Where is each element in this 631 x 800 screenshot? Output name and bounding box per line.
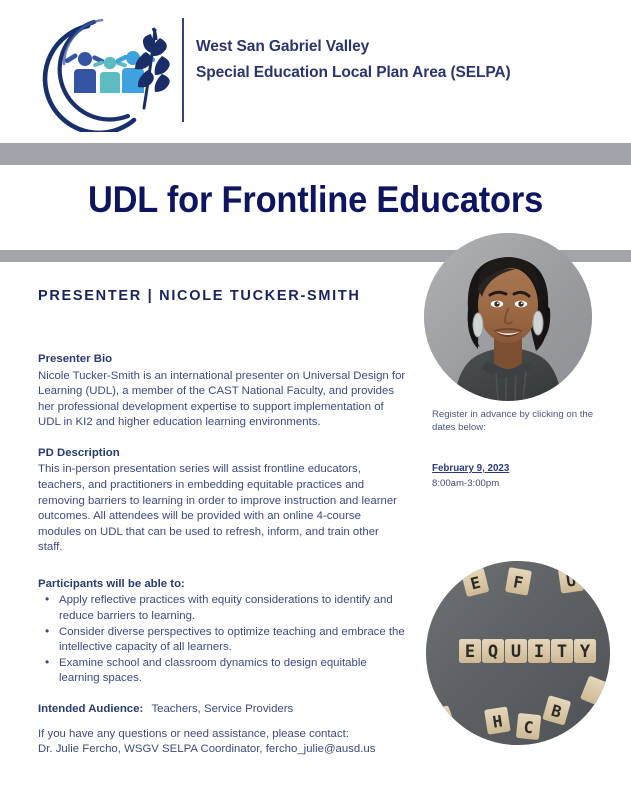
svg-text:Y: Y (580, 642, 591, 662)
audience-label: Intended Audience: (38, 703, 143, 715)
registration-column: Register in advance by clicking on the d… (432, 408, 604, 490)
list-item: Examine school and classroom dynamics to… (57, 656, 406, 687)
svg-text:U: U (511, 642, 521, 662)
header-divider (182, 18, 184, 122)
equity-scrabble-photo: E Q U I T (426, 561, 610, 745)
presenter-headshot-photo (424, 233, 592, 401)
section-pd-description: PD Description This in-person presentati… (38, 446, 406, 556)
audience-value: Teachers, Service Providers (151, 703, 293, 715)
svg-text:U: U (565, 571, 577, 591)
org-line-1: West San Gabriel Valley (196, 34, 511, 60)
svg-text:C: C (523, 717, 535, 737)
svg-text:E: E (465, 642, 475, 662)
outcomes-heading: Participants will be able to: (38, 577, 406, 593)
svg-text:I: I (534, 642, 544, 662)
contact-line-2: Dr. Julie Fercho, WSGV SELPA Coordinator… (38, 742, 406, 758)
registration-date-time: 8:00am-3:00pm (432, 477, 604, 490)
page-title: UDL for Frontline Educators (22, 179, 609, 221)
page-header: West San Gabriel Valley Special Educatio… (0, 0, 631, 143)
header-rule-bar (0, 143, 631, 165)
outcomes-list: Apply reflective practices with equity c… (38, 593, 406, 687)
registration-date-entry: February 9, 2023 8:00am-3:00pm (432, 458, 604, 490)
presenter-name-heading: PRESENTER | NICOLE TUCKER-SMITH (38, 288, 361, 304)
contact-line-1: If you have any questions or need assist… (38, 727, 406, 743)
org-line-2: Special Education Local Plan Area (SELPA… (196, 60, 511, 86)
registration-date-link[interactable]: February 9, 2023 (432, 463, 509, 474)
selpa-logo-icon (42, 12, 182, 132)
registration-note: Register in advance by clicking on the d… (432, 408, 604, 434)
main-content-column: Presenter Bio Nicole Tucker-Smith is an … (38, 352, 406, 758)
list-item: Consider diverse perspectives to optimiz… (57, 625, 406, 656)
svg-text:Q: Q (488, 642, 498, 662)
intended-audience: Intended Audience: Teachers, Service Pro… (38, 702, 406, 718)
list-item: Apply reflective practices with equity c… (57, 593, 406, 624)
section-outcomes: Participants will be able to: Apply refl… (38, 577, 406, 687)
bio-text: Nicole Tucker-Smith is an international … (38, 369, 406, 431)
header-org-name: West San Gabriel Valley Special Educatio… (196, 34, 511, 86)
svg-text:T: T (557, 642, 567, 662)
pd-heading: PD Description (38, 446, 406, 462)
pd-text: This in-person presentation series will … (38, 462, 406, 556)
flyer-page: West San Gabriel Valley Special Educatio… (0, 0, 631, 800)
contact-block: If you have any questions or need assist… (38, 727, 406, 758)
bio-heading: Presenter Bio (38, 352, 406, 368)
section-presenter-bio: Presenter Bio Nicole Tucker-Smith is an … (38, 352, 406, 431)
